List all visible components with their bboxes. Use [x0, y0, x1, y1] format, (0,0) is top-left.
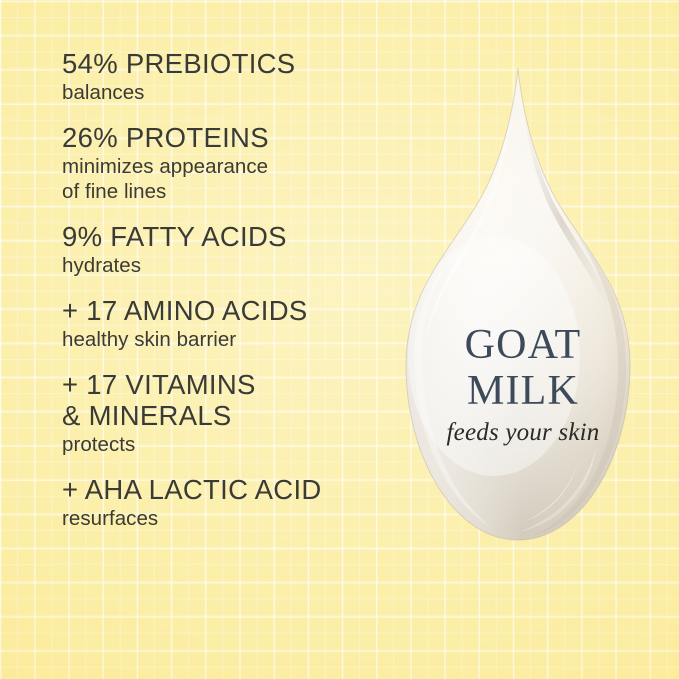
benefit-description: hydrates [62, 253, 392, 278]
benefit-description: resurfaces [62, 506, 392, 531]
benefit-headline: 9% FATTY ACIDS [62, 221, 392, 252]
benefit-item-proteins: 26% PROTEINS minimizes appearance of fin… [62, 122, 392, 204]
benefit-description: healthy skin barrier [62, 327, 392, 352]
infographic-canvas: 54% PREBIOTICS balances 26% PROTEINS min… [0, 0, 679, 679]
benefit-item-aha-lactic-acid: + AHA LACTIC ACID resurfaces [62, 474, 392, 531]
benefit-item-amino-acids: + 17 AMINO ACIDS healthy skin barrier [62, 295, 392, 352]
benefit-description: balances [62, 80, 392, 105]
droplet-shape [382, 56, 664, 556]
benefit-headline: 54% PREBIOTICS [62, 48, 392, 79]
benefit-item-prebiotics: 54% PREBIOTICS balances [62, 48, 392, 105]
benefit-headline: + 17 AMINO ACIDS [62, 295, 392, 326]
benefit-headline: + AHA LACTIC ACID [62, 474, 392, 505]
benefit-description: minimizes appearance of fine lines [62, 154, 392, 204]
milk-droplet-illustration [382, 56, 664, 556]
benefit-description: protects [62, 432, 392, 457]
benefit-headline: 26% PROTEINS [62, 122, 392, 153]
benefits-list: 54% PREBIOTICS balances 26% PROTEINS min… [62, 48, 392, 531]
benefit-item-vitamins-minerals: + 17 VITAMINS & MINERALS protects [62, 369, 392, 457]
benefit-item-fatty-acids: 9% FATTY ACIDS hydrates [62, 221, 392, 278]
benefit-headline: + 17 VITAMINS & MINERALS [62, 369, 392, 431]
